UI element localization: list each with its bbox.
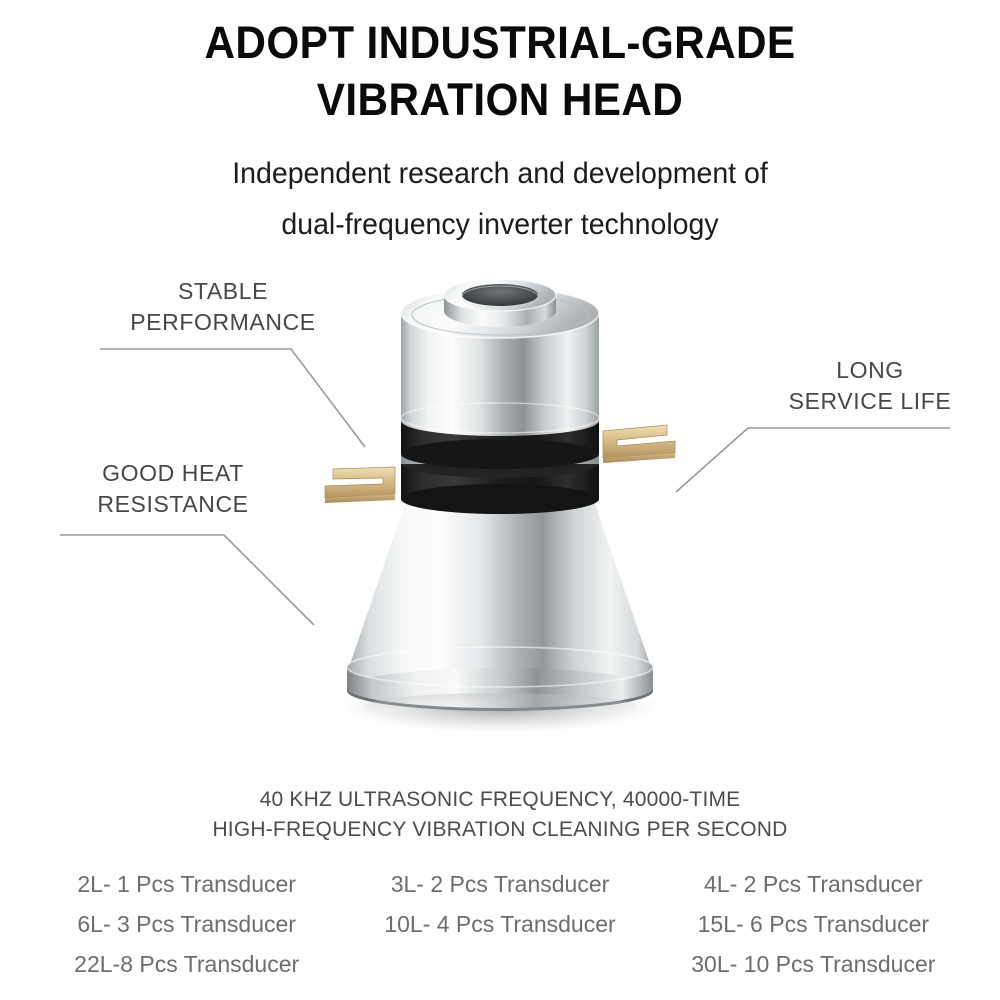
spec-item: 6L- 3 Pcs Transducer	[30, 910, 343, 939]
terminal-right	[603, 425, 675, 463]
callout-life-line-2: SERVICE LIFE	[745, 386, 995, 417]
page-subtitle: Independent research and development of …	[0, 148, 1000, 250]
spec-item: 10L- 4 Pcs Transducer	[343, 910, 656, 939]
bore-hole	[462, 284, 538, 306]
callout-heat-line-1: GOOD HEAT	[58, 458, 288, 489]
spec-item: 4L- 2 Pcs Transducer	[657, 870, 970, 899]
spec-item: 3L- 2 Pcs Transducer	[343, 870, 656, 899]
ultrasonic-transducer-image	[255, 255, 745, 755]
infographic-page: ADOPT INDUSTRIAL-GRADE VIBRATION HEAD In…	[0, 0, 1000, 1000]
spec-item: 22L-8 Pcs Transducer	[30, 950, 343, 979]
base-reflection	[362, 693, 638, 721]
spec-item: 15L- 6 Pcs Transducer	[657, 910, 970, 939]
page-title: ADOPT INDUSTRIAL-GRADE VIBRATION HEAD	[0, 14, 1000, 128]
product-caption: 40 KHZ ULTRASONIC FREQUENCY, 40000-TIME …	[0, 785, 1000, 845]
callout-long-service-life: LONG SERVICE LIFE	[745, 355, 995, 417]
spec-item: 30L- 10 Pcs Transducer	[657, 950, 970, 979]
top-collar-bore	[444, 279, 556, 327]
callout-life-line-1: LONG	[745, 355, 995, 386]
title-line-2: VIBRATION HEAD	[30, 71, 970, 128]
caption-line-1: 40 KHZ ULTRASONIC FREQUENCY, 40000-TIME	[0, 785, 1000, 815]
subtitle-line-1: Independent research and development of	[25, 148, 975, 199]
spec-item-empty	[343, 950, 656, 979]
subtitle-line-2: dual-frequency inverter technology	[25, 199, 975, 250]
caption-line-2: HIGH-FREQUENCY VIBRATION CLEANING PER SE…	[0, 815, 1000, 845]
callout-good-heat-resistance: GOOD HEAT RESISTANCE	[58, 458, 288, 520]
callout-heat-line-2: RESISTANCE	[58, 489, 288, 520]
title-line-1: ADOPT INDUSTRIAL-GRADE	[30, 14, 970, 71]
terminal-left	[325, 467, 395, 503]
spec-item: 2L- 1 Pcs Transducer	[30, 870, 343, 899]
transducer-spec-grid: 2L- 1 Pcs Transducer 3L- 2 Pcs Transduce…	[30, 870, 970, 979]
